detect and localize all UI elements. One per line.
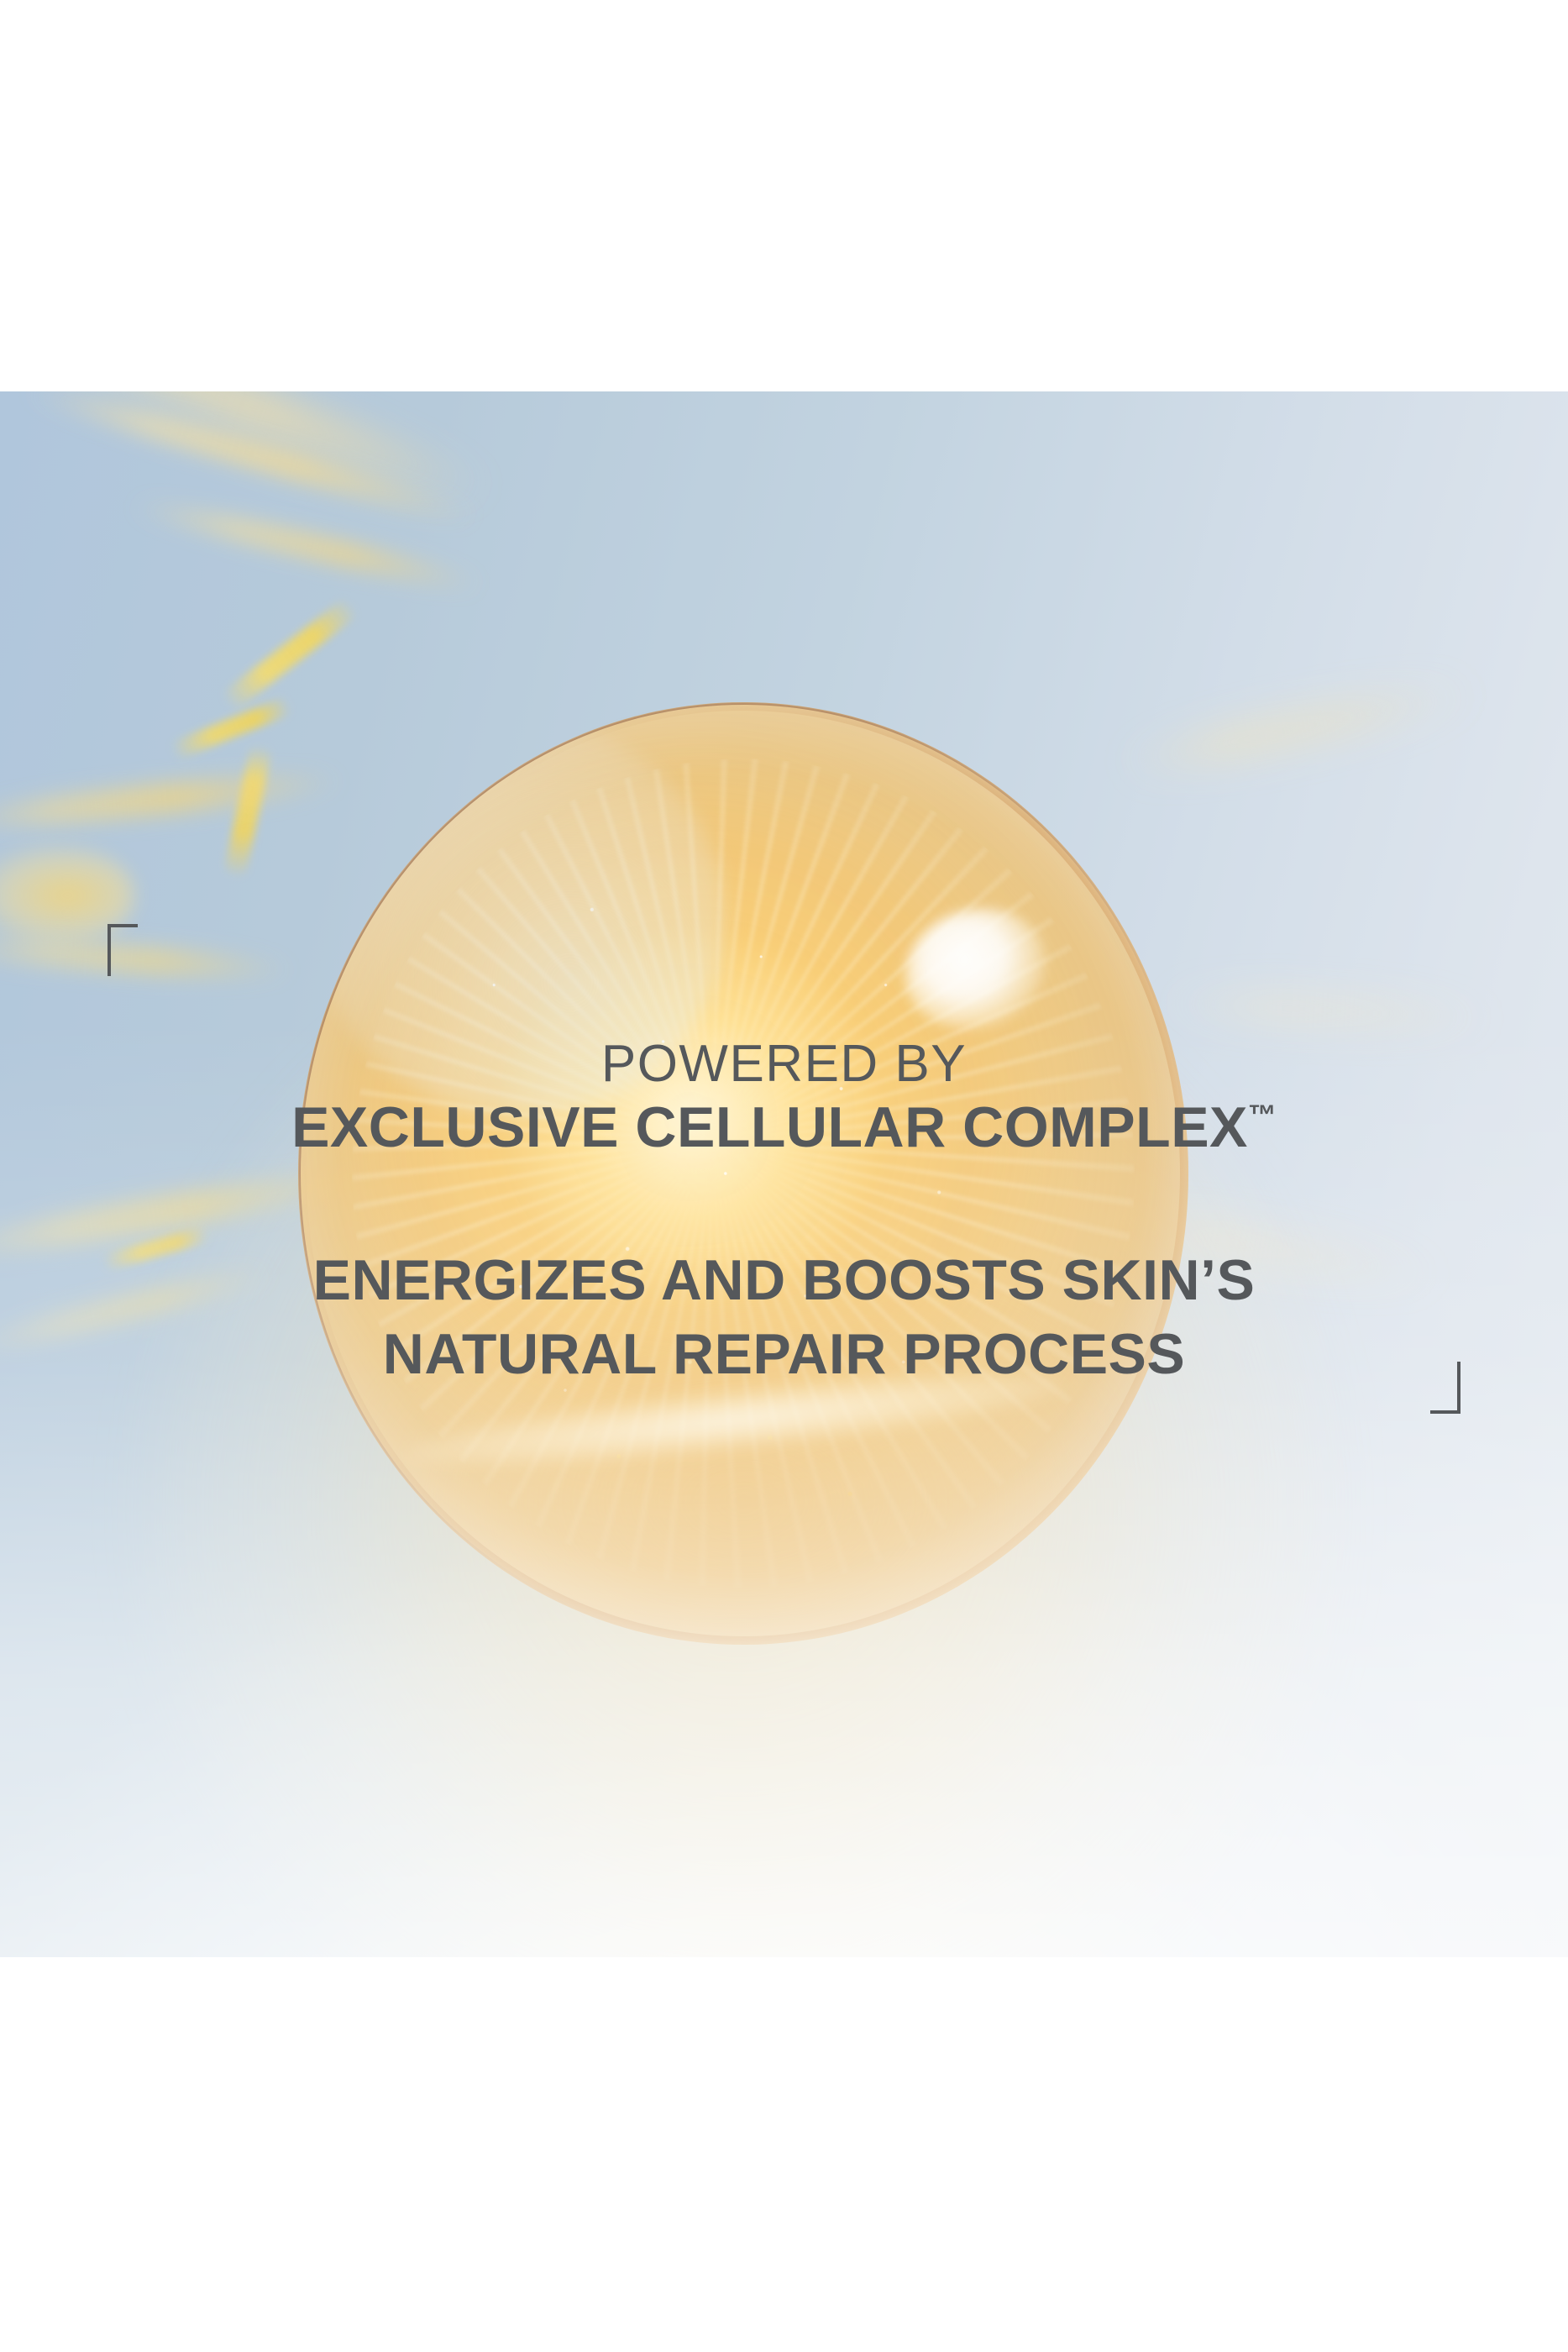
text-exclusive-cellular-complex-label: EXCLUSIVE CELLULAR COMPLEX xyxy=(291,1095,1248,1159)
page-root: POWERED BY EXCLUSIVE CELLULAR COMPLEX™ E… xyxy=(0,0,1568,2352)
bracket-top-left-vertical xyxy=(108,924,111,976)
bracket-top-left xyxy=(108,924,138,976)
text-energizes-and-boosts: ENERGIZES AND BOOSTS SKIN’S xyxy=(0,1252,1568,1309)
trademark-icon: ™ xyxy=(1248,1100,1277,1131)
bottom-white-fade xyxy=(0,391,1568,1957)
text-exclusive-cellular-complex: EXCLUSIVE CELLULAR COMPLEX™ xyxy=(0,1099,1568,1156)
text-natural-repair-process: NATURAL REPAIR PROCESS xyxy=(0,1326,1568,1383)
product-hero-photo xyxy=(0,391,1568,1957)
bracket-top-left-horizontal xyxy=(108,924,138,927)
text-powered-by: POWERED BY xyxy=(0,1038,1568,1090)
bracket-bottom-right-horizontal xyxy=(1430,1410,1460,1414)
